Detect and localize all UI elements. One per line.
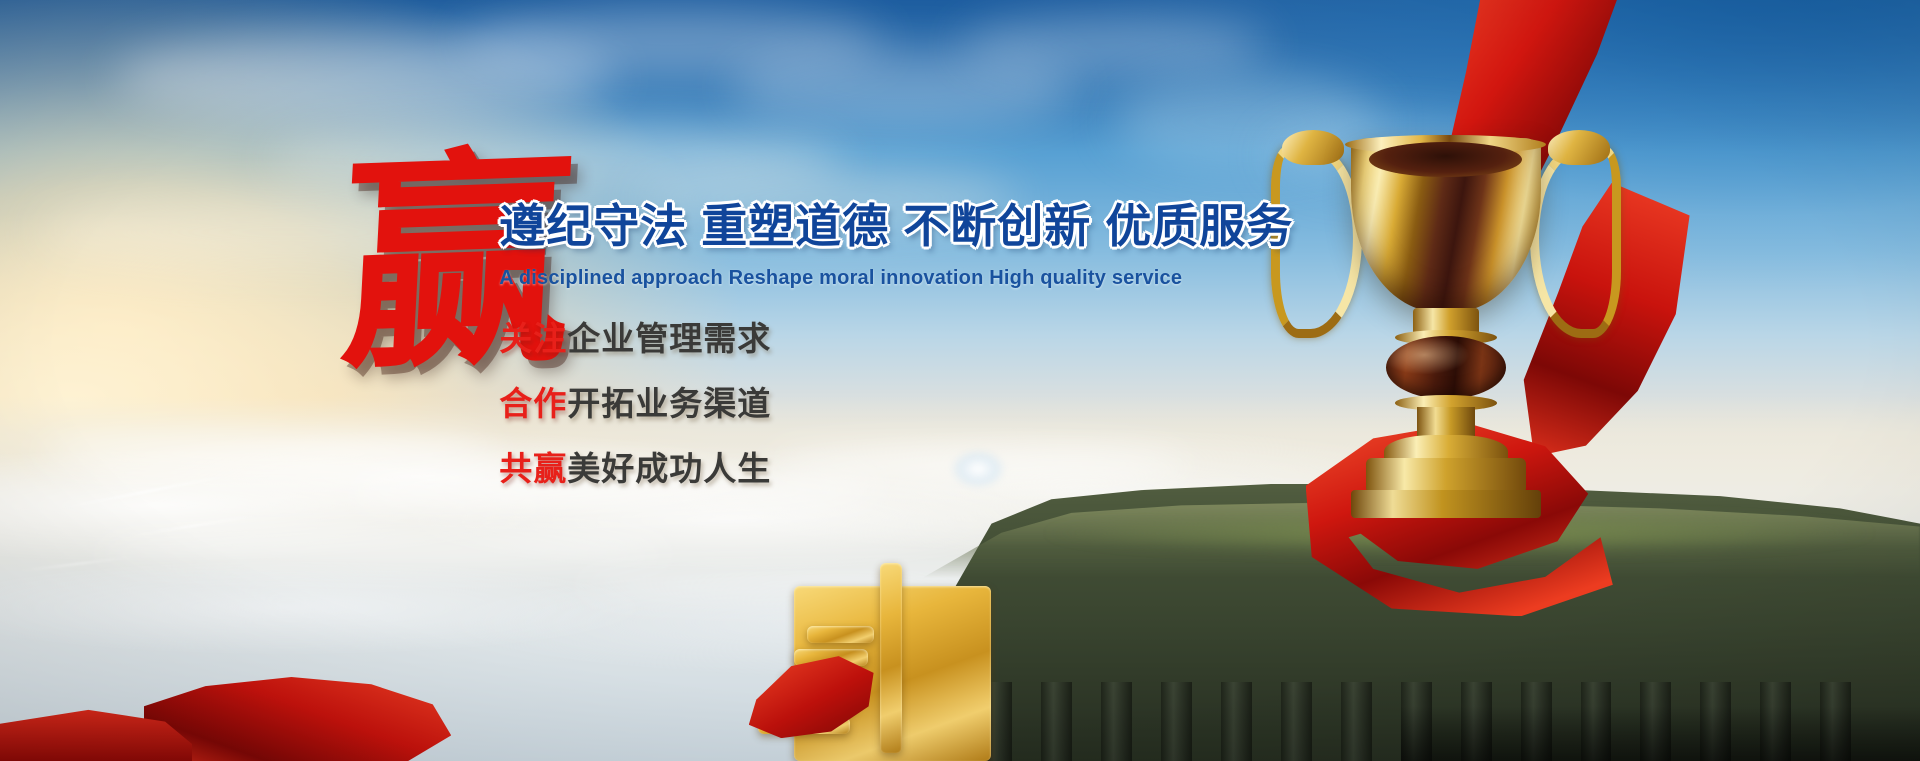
slogan-item: 合作开拓业务渠道 [499,377,1267,425]
slogan-highlight: 关注 [499,320,567,357]
slogan-highlight: 共赢 [499,450,567,487]
cloud-streak [38,434,499,472]
headline-phrase-3: 不断创新 [903,200,1091,252]
headline-phrase-4: 优质服务 [1105,200,1293,252]
cloud-wisp [960,15,1267,76]
banner-text-block: 遵纪守法重塑道德不断创新优质服务 A disciplined approach … [499,190,1267,507]
slogan-highlight: 合作 [499,385,567,422]
slogan-body: 企业管理需求 [567,320,771,357]
slogan-list: 关注企业管理需求 合作开拓业务渠道 共赢美好成功人生 [499,312,1267,490]
trophy-icon [1263,118,1628,514]
slogan-item: 共赢美好成功人生 [499,442,1267,490]
slogan-body: 美好成功人生 [567,450,771,487]
cloud-streak [96,533,672,563]
slogan-item: 关注企业管理需求 [499,312,1267,360]
slogan-body: 开拓业务渠道 [567,385,771,422]
subtitle-english: A disciplined approach Reshape moral inn… [499,267,1267,290]
headline: 遵纪守法重塑道德不断创新优质服务 [499,190,1267,256]
promo-banner: 赢 遵纪守法重塑道德不断创新优质服务 A disciplined approac… [0,0,1920,761]
headline-phrase-1: 遵纪守法 [499,200,687,252]
headline-phrase-2: 重塑道德 [701,200,889,252]
